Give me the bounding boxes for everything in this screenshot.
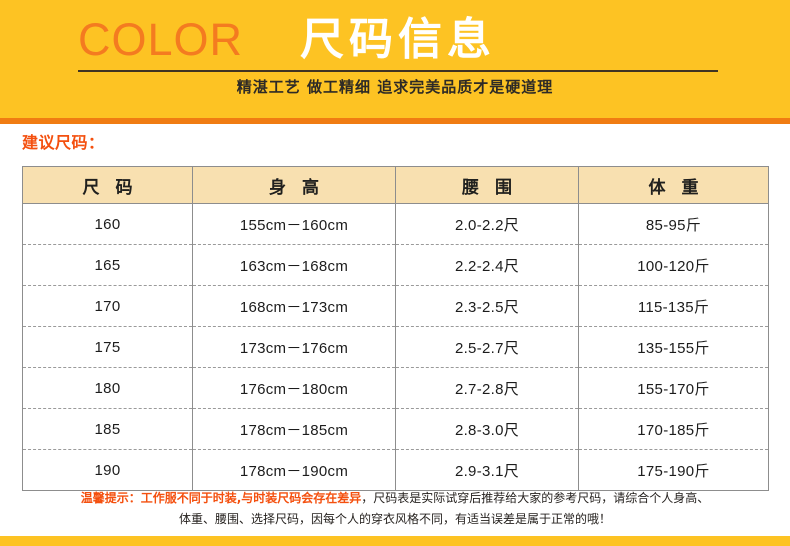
bottom-accent-bar — [0, 536, 790, 546]
cell-size: 165 — [23, 245, 193, 286]
cell-size: 190 — [23, 450, 193, 491]
cell-weight: 115-135斤 — [579, 286, 769, 327]
cell-weight: 85-95斤 — [579, 204, 769, 245]
cell-height: 155cm－160cm — [193, 204, 396, 245]
table-row: 170 168cm－173cm 2.3-2.5尺 115-135斤 — [23, 286, 769, 327]
banner-chinese-title: 尺码信息 — [300, 12, 496, 68]
banner-latin-title: COLOR — [78, 14, 243, 66]
banner-subtitle: 精湛工艺 做工精细 追求完美品质才是硬道理 — [0, 76, 790, 98]
cell-waist: 2.8-3.0尺 — [396, 409, 579, 450]
banner: COLOR 尺码信息 精湛工艺 做工精细 追求完美品质才是硬道理 — [0, 0, 790, 118]
size-info-page: COLOR 尺码信息 精湛工艺 做工精细 追求完美品质才是硬道理 建议尺码： 尺… — [0, 0, 790, 546]
cell-waist: 2.5-2.7尺 — [396, 327, 579, 368]
table-row: 165 163cm－168cm 2.2-2.4尺 100-120斤 — [23, 245, 769, 286]
table-row: 180 176cm－180cm 2.7-2.8尺 155-170斤 — [23, 368, 769, 409]
footer-note: 温馨提示：工作服不同于时装,与时装尺码会存在差异，尺码表是实际试穿后推荐给大家的… — [0, 488, 790, 530]
size-table-head: 尺 码 身 高 腰 围 体 重 — [23, 167, 769, 204]
cell-waist: 2.0-2.2尺 — [396, 204, 579, 245]
cell-height: 168cm－173cm — [193, 286, 396, 327]
cell-height: 173cm－176cm — [193, 327, 396, 368]
cell-weight: 170-185斤 — [579, 409, 769, 450]
cell-weight: 175-190斤 — [579, 450, 769, 491]
banner-bottom-divider — [0, 118, 790, 124]
cell-height: 178cm－190cm — [193, 450, 396, 491]
banner-title-group: COLOR 尺码信息 — [0, 14, 790, 66]
cell-height: 163cm－168cm — [193, 245, 396, 286]
table-row: 190 178cm－190cm 2.9-3.1尺 175-190斤 — [23, 450, 769, 491]
column-header-height: 身 高 — [193, 167, 396, 204]
column-header-waist: 腰 围 — [396, 167, 579, 204]
cell-size: 180 — [23, 368, 193, 409]
table-row: 160 155cm－160cm 2.0-2.2尺 85-95斤 — [23, 204, 769, 245]
cell-waist: 2.9-3.1尺 — [396, 450, 579, 491]
cell-size: 185 — [23, 409, 193, 450]
cell-waist: 2.2-2.4尺 — [396, 245, 579, 286]
size-table-body: 160 155cm－160cm 2.0-2.2尺 85-95斤 165 163c… — [23, 204, 769, 491]
cell-height: 176cm－180cm — [193, 368, 396, 409]
cell-weight: 135-155斤 — [579, 327, 769, 368]
column-header-weight: 体 重 — [579, 167, 769, 204]
footer-note-line2: 体重、腰围、选择尺码，因每个人的穿衣风格不同，有适当误差是属于正常的哦！ — [0, 509, 790, 530]
cell-height: 178cm－185cm — [193, 409, 396, 450]
cell-waist: 2.7-2.8尺 — [396, 368, 579, 409]
footer-note-line1-rest: ，尺码表是实际试穿后推荐给大家的参考尺码，请综合个人身高、 — [361, 491, 709, 505]
cell-size: 160 — [23, 204, 193, 245]
column-header-size: 尺 码 — [23, 167, 193, 204]
table-row: 185 178cm－185cm 2.8-3.0尺 170-185斤 — [23, 409, 769, 450]
suggested-size-label: 建议尺码： — [22, 132, 105, 154]
cell-weight: 155-170斤 — [579, 368, 769, 409]
table-header-row: 尺 码 身 高 腰 围 体 重 — [23, 167, 769, 204]
table-row: 175 173cm－176cm 2.5-2.7尺 135-155斤 — [23, 327, 769, 368]
banner-underline-rule — [78, 70, 718, 72]
cell-size: 170 — [23, 286, 193, 327]
cell-waist: 2.3-2.5尺 — [396, 286, 579, 327]
cell-weight: 100-120斤 — [579, 245, 769, 286]
footer-note-highlight: 温馨提示：工作服不同于时装,与时装尺码会存在差异 — [81, 491, 362, 505]
size-table: 尺 码 身 高 腰 围 体 重 160 155cm－160cm 2.0-2.2尺… — [22, 166, 769, 491]
cell-size: 175 — [23, 327, 193, 368]
